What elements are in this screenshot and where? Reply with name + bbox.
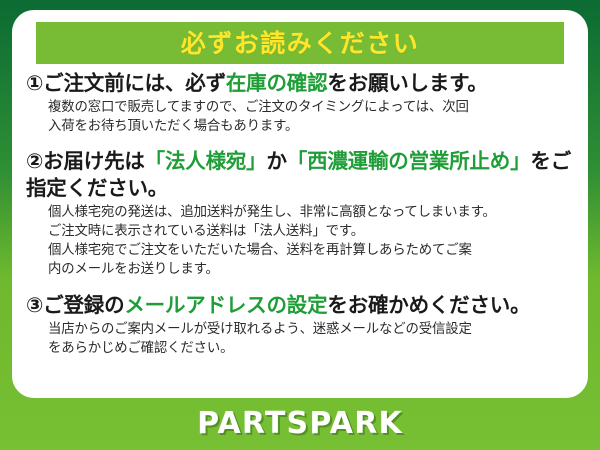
section-2-body: 個人様宅宛の発送は、追加送料が発生し、非常に高額となってしまいます。 ご注文時に… [26, 203, 578, 279]
section-3-heading-post: をお確かめください。 [327, 293, 530, 317]
section-1-heading-post: をお願いします。 [327, 71, 487, 95]
section-2-heading-mid: か [266, 149, 286, 173]
section-3-body-line-2: をあらかじめご確認ください。 [48, 339, 578, 358]
notice-section-2: ②お届け先は「法人様宛」か「西濃運輸の営業所止め」をご指定ください。 個人様宅宛… [12, 148, 588, 279]
notice-title: 必ずお読みください [181, 31, 420, 56]
section-3-heading-highlight: メールアドレスの設定 [124, 293, 327, 317]
section-2-heading-pre: お届け先は [43, 149, 145, 173]
brand-footer: PARTSPARK [0, 398, 600, 450]
section-2-heading: ②お届け先は「法人様宛」か「西濃運輸の営業所止め」をご指定ください。 [26, 148, 578, 200]
section-2-body-line-4: 内のメールをお送りします。 [48, 260, 578, 279]
notice-banner: 必ずお読みください ①ご注文前には、必ず在庫の確認をお願いします。 複数の窓口で… [0, 0, 600, 450]
section-1-heading-highlight: 在庫の確認 [226, 71, 328, 95]
section-3-heading: ③ご登録のメールアドレスの設定をお確かめください。 [26, 292, 578, 318]
notice-section-3: ③ご登録のメールアドレスの設定をお確かめください。 当店からのご案内メールが受け… [12, 292, 588, 358]
section-2-body-line-1: 個人様宅宛の発送は、追加送料が発生し、非常に高額となってしまいます。 [48, 203, 578, 222]
notice-card: 必ずお読みください ①ご注文前には、必ず在庫の確認をお願いします。 複数の窓口で… [12, 10, 588, 398]
section-1-body-line-2: 入荷をお待ち頂いただく場合もあります。 [48, 117, 578, 136]
notice-header-bar: 必ずお読みください [36, 22, 564, 64]
section-3-marker: ③ [26, 293, 43, 317]
notice-content: ①ご注文前には、必ず在庫の確認をお願いします。 複数の窓口で販売してますので、ご… [12, 70, 588, 358]
section-3-body: 当店からのご案内メールが受け取れるよう、迷惑メールなどの受信設定 をあらかじめご… [26, 320, 578, 358]
section-2-heading-highlight-2: 「西濃運輸の営業所止め」 [287, 149, 531, 173]
section-3-body-line-1: 当店からのご案内メールが受け取れるよう、迷惑メールなどの受信設定 [48, 320, 578, 339]
section-2-heading-highlight: 「法人様宛」 [145, 149, 267, 173]
section-1-heading: ①ご注文前には、必ず在庫の確認をお願いします。 [26, 70, 578, 96]
brand-logo-text: PARTSPARK [197, 409, 403, 439]
section-1-body: 複数の窓口で販売してますので、ご注文のタイミングによっては、次回 入荷をお待ち頂… [26, 98, 578, 136]
section-1-heading-pre: ご注文前には、必ず [43, 71, 226, 95]
section-1-marker: ① [26, 71, 43, 95]
section-2-marker: ② [26, 149, 43, 173]
notice-section-1: ①ご注文前には、必ず在庫の確認をお願いします。 複数の窓口で販売してますので、ご… [12, 70, 588, 136]
section-2-body-line-3: 個人様宅宛でご注文をいただいた場合、送料を再計算しあらためてご案 [48, 241, 578, 260]
section-1-body-line-1: 複数の窓口で販売してますので、ご注文のタイミングによっては、次回 [48, 98, 578, 117]
section-3-heading-pre: ご登録の [43, 293, 124, 317]
section-2-body-line-2: ご注文時に表示されている送料は「法人送料」です。 [48, 222, 578, 241]
